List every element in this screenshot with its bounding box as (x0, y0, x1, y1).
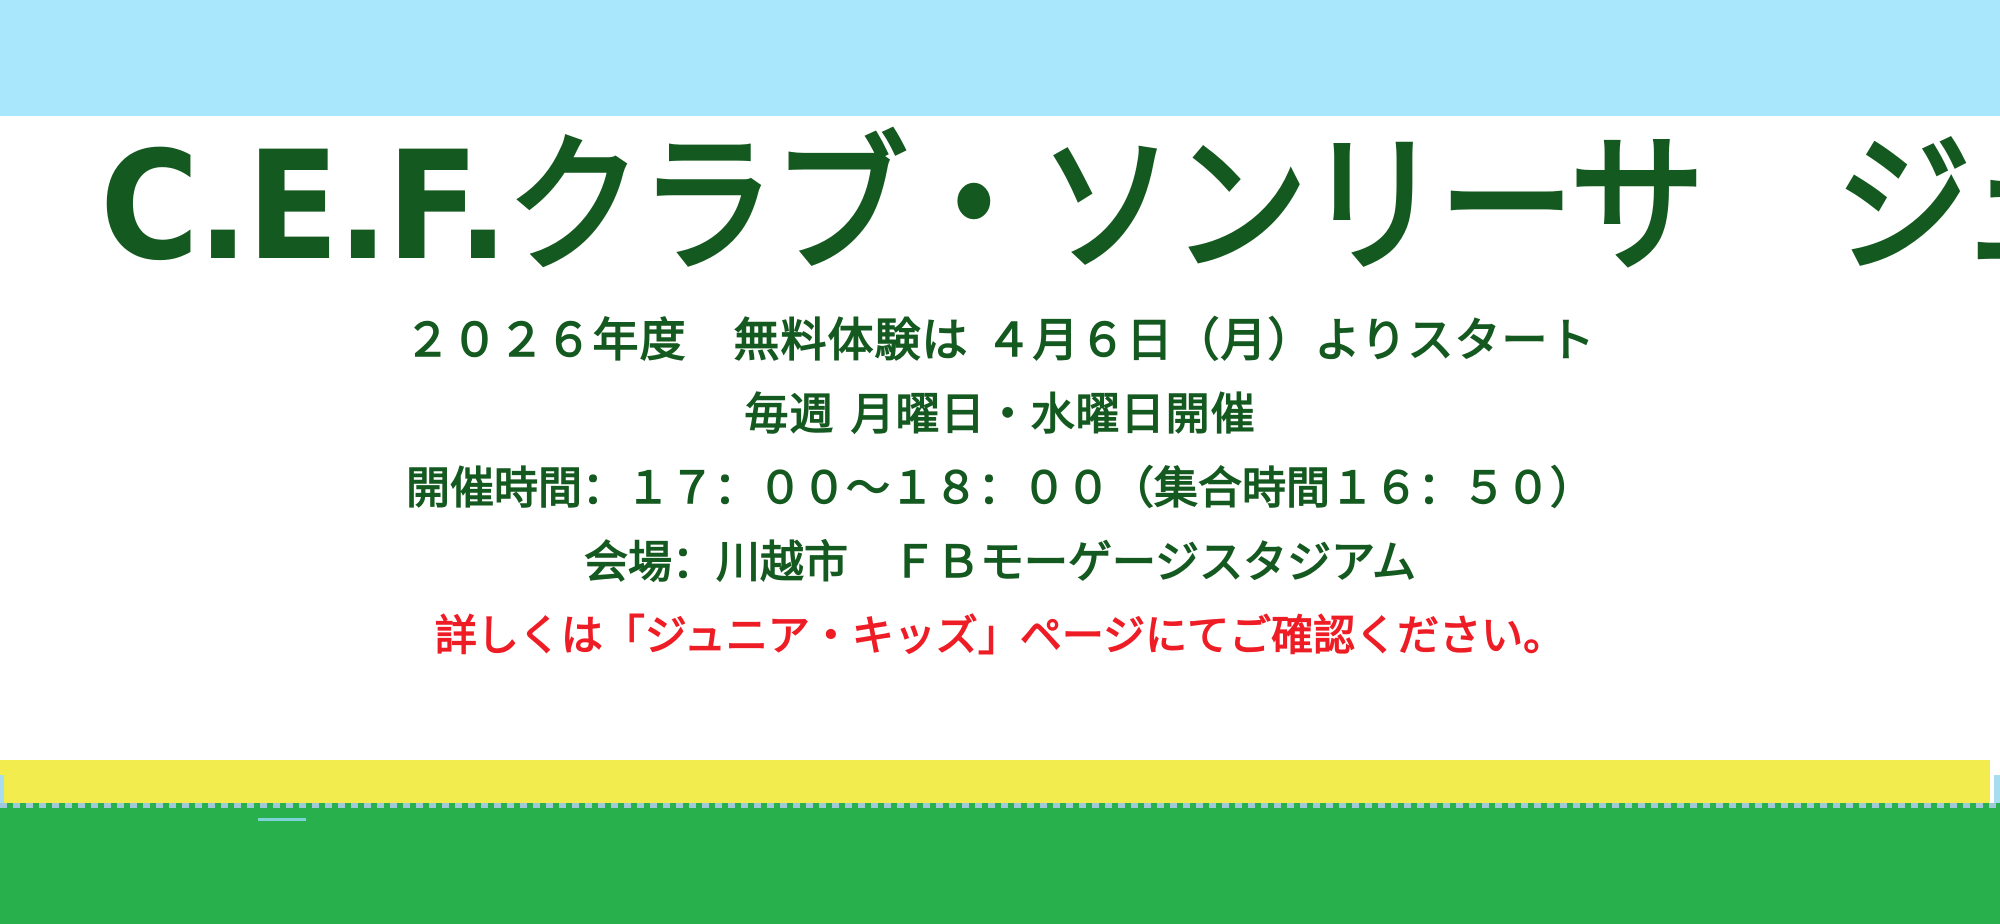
info-line-time: 開催時間：１７：００～１８：００（集合時間１６：５０） (0, 452, 2000, 526)
info-lines: ２０２６年度 無料体験は ４月６日（月）よりスタート 毎週 月曜日・水曜日開催 … (0, 302, 2000, 672)
dashed-divider (0, 803, 2000, 808)
top-sky-band (0, 0, 2000, 116)
blue-tick-mark (258, 818, 306, 821)
green-footer-band (0, 806, 2000, 924)
right-blue-sliver (1994, 775, 2000, 805)
yellow-accent-band (0, 760, 1990, 805)
info-line-venue: 会場：川越市 ＦＢモーゲージスタジアム (0, 526, 2000, 600)
info-line-schedule-start: ２０２６年度 無料体験は ４月６日（月）よりスタート (0, 302, 2000, 378)
page-title: C.E.F.クラブ・ソンリーサ ジュニア/キッズ (100, 118, 1900, 296)
promo-banner-page: C.E.F.クラブ・ソンリーサ ジュニア/キッズ ２０２６年度 無料体験は ４月… (0, 0, 2000, 924)
info-line-weekdays: 毎週 月曜日・水曜日開催 (0, 378, 2000, 452)
banner-content: C.E.F.クラブ・ソンリーサ ジュニア/キッズ ２０２６年度 無料体験は ４月… (0, 116, 2000, 758)
left-blue-sliver (0, 775, 4, 805)
info-line-notice: 詳しくは「ジュニア・キッズ」ページにてご確認ください。 (0, 600, 2000, 672)
